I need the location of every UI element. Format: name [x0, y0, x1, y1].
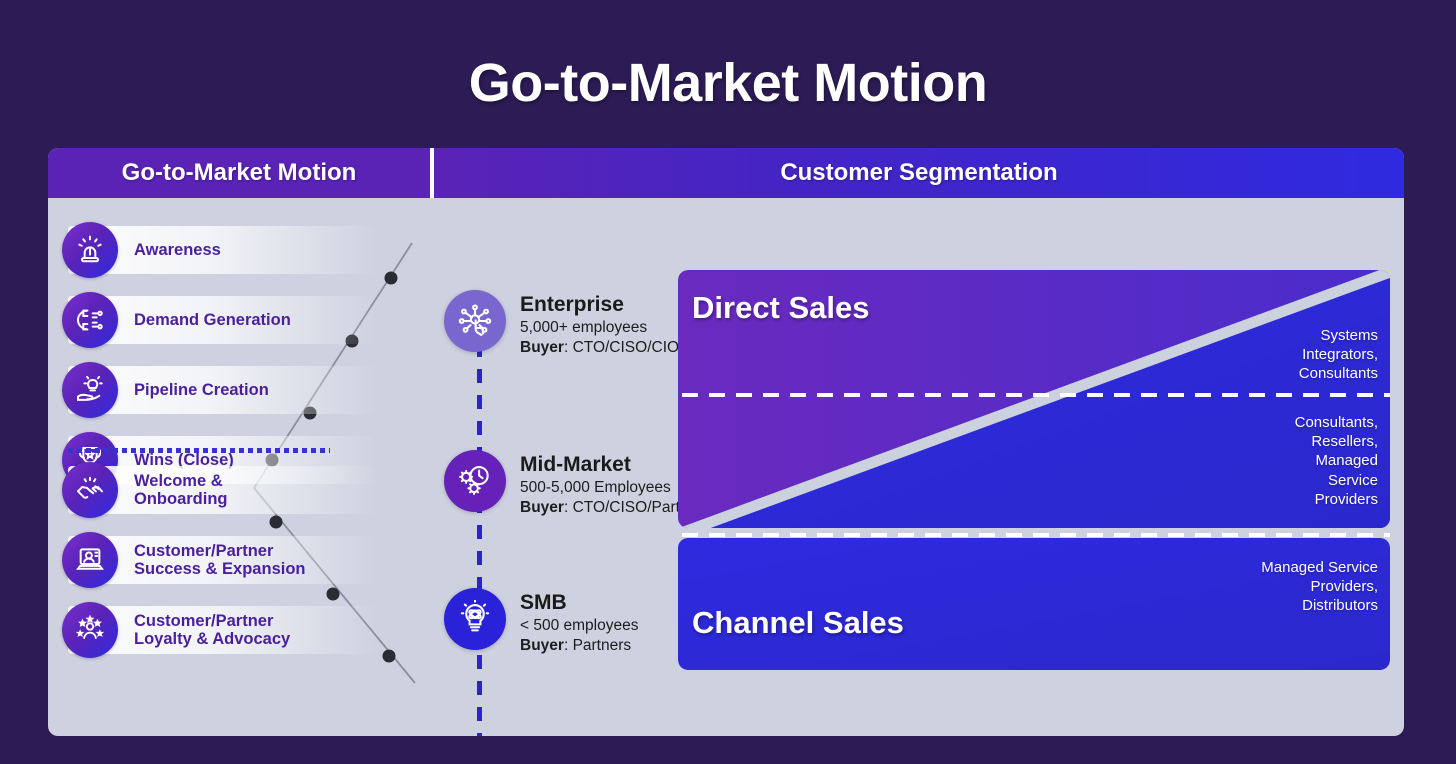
- header-gtm-label: Go-to-Market Motion: [122, 159, 357, 187]
- funnel-stage-label: Pipeline Creation: [134, 381, 269, 399]
- funnel-stage-success-expansion[interactable]: Customer/PartnerSuccess & Expansion: [68, 536, 378, 584]
- segment-buyer-value: Partners: [573, 637, 632, 654]
- segment-name: Enterprise: [520, 293, 679, 316]
- people-stars-icon: [62, 602, 118, 658]
- segment-enterprise[interactable]: Enterprise 5,000+ employees Buyer: CTO/C…: [444, 290, 679, 358]
- segment-buyer: Buyer: Partners: [520, 636, 638, 656]
- header-gtm: Go-to-Market Motion: [48, 148, 430, 198]
- funnel-stage-label: Demand Generation: [134, 311, 291, 329]
- direct-sales-label: Direct Sales: [692, 290, 870, 326]
- funnel-column: Awareness Demand Generation: [48, 198, 430, 736]
- funnel-stage-demand-generation[interactable]: Demand Generation: [68, 296, 378, 344]
- partner-note-smb: Managed ServiceProviders,Distributors: [1261, 558, 1378, 616]
- segment-size: 5,000+ employees: [520, 318, 679, 338]
- funnel-phase-separator: [68, 448, 330, 453]
- funnel-stage-label: Welcome &Onboarding: [134, 472, 228, 509]
- segment-buyer-label: Buyer: [520, 499, 564, 516]
- segment-buyer-label: Buyer: [520, 339, 564, 356]
- funnel-stage-loyalty-advocacy[interactable]: Customer/PartnerLoyalty & Advocacy: [68, 606, 378, 654]
- bulb-gear-icon: [444, 588, 506, 650]
- partner-note-mid-market: Consultants,Resellers,ManagedServiceProv…: [1295, 413, 1378, 509]
- segment-smb[interactable]: SMB < 500 employees Buyer: Partners: [444, 588, 638, 656]
- funnel-stage-label: Awareness: [134, 241, 221, 259]
- gears-clock-icon: [444, 450, 506, 512]
- page-title: Go-to-Market Motion: [0, 52, 1456, 114]
- magnet-icon: [62, 292, 118, 348]
- segment-buyer-label: Buyer: [520, 637, 564, 654]
- partner-note-enterprise: SystemsIntegrators,Consultants: [1299, 326, 1378, 384]
- funnel-stage-label: Customer/PartnerSuccess & Expansion: [134, 542, 306, 579]
- monitor-support-icon: [62, 532, 118, 588]
- funnel-stage-pipeline-creation[interactable]: Pipeline Creation: [68, 366, 378, 414]
- handshake-icon: [62, 462, 118, 518]
- channel-sales-label: Channel Sales: [692, 605, 904, 641]
- segment-buyer-value: CTO/CISO/CIO: [573, 339, 680, 356]
- network-touch-icon: [444, 290, 506, 352]
- siren-icon: [62, 222, 118, 278]
- header-segmentation-label: Customer Segmentation: [780, 159, 1057, 187]
- segment-mid-market[interactable]: Mid-Market 500-5,000 Employees Buyer: CT…: [444, 450, 710, 518]
- header-segmentation: Customer Segmentation: [434, 148, 1404, 198]
- diagram-board: Go-to-Market Motion Customer Segmentatio…: [48, 148, 1404, 736]
- funnel-stage-awareness[interactable]: Awareness: [68, 226, 378, 274]
- segment-name: SMB: [520, 591, 638, 614]
- segment-size: < 500 employees: [520, 616, 638, 636]
- funnel-stage-welcome-onboarding[interactable]: Welcome &Onboarding: [68, 466, 378, 514]
- header-row: Go-to-Market Motion Customer Segmentatio…: [48, 148, 1404, 198]
- hand-lightbulb-icon: [62, 362, 118, 418]
- sales-motion-panel: Direct Sales Channel Sales SystemsIntegr…: [678, 270, 1390, 670]
- segment-buyer: Buyer: CTO/CISO/CIO: [520, 338, 679, 358]
- funnel-stage-label: Customer/PartnerLoyalty & Advocacy: [134, 612, 290, 649]
